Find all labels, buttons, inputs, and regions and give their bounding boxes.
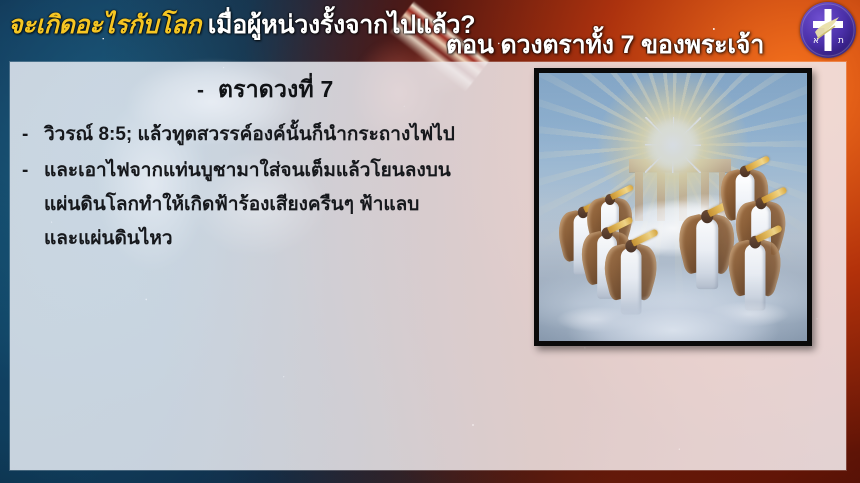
angel-figure (737, 225, 772, 310)
angel-robe (745, 244, 766, 311)
bullet-dash: - (22, 154, 32, 188)
bullet-dash: - (22, 118, 32, 152)
bullet-body: และเอาไฟจากแท่นบูชามาใส่จนเต็มแล้วโยนลงบ… (44, 154, 542, 256)
slide-header: จะเกิดอะไรกับโลก เมื่อผู้หน่วงรั้งจากไปแ… (0, 0, 860, 62)
bullet-line: และเอาไฟจากแท่นบูชามาใส่จนเต็มแล้วโยนลงบ… (44, 154, 542, 188)
heading-dash: - (197, 79, 204, 103)
section-heading: ตราดวงที่ 7 (218, 72, 333, 108)
angel-robe (696, 218, 718, 289)
bullet-line: แผ่นดินโลกทำให้เกิดฟ้าร้องเสียงครืนๆ ฟ้า… (44, 188, 542, 222)
svg-text:א: א (813, 36, 819, 46)
svg-text:ת: ת (838, 36, 844, 46)
slide-title-rest: เมื่อผู้หน่วงรั้งจากไปแล้ว? (201, 11, 475, 39)
bullet-item: - วิวรณ์ 8:5; แล้วทูตสวรรค์องค์นั้นก็นำก… (22, 118, 542, 152)
bullet-line: และแผ่นดินไหว (44, 222, 542, 256)
section-heading-row: - ตราดวงที่ 7 (22, 72, 542, 108)
bullet-line: วิวรณ์ 8:5; แล้วทูตสวรรค์องค์นั้นก็นำกระ… (44, 118, 542, 152)
presentation-slide: จะเกิดอะไรกับโลก เมื่อผู้หน่วงรั้งจากไปแ… (0, 0, 860, 483)
angel-figure (613, 229, 648, 314)
seven-angels-illustration (539, 73, 807, 341)
ministry-logo[interactable]: א ת (800, 2, 856, 58)
illustration-frame (534, 68, 812, 346)
slide-title-highlight: จะเกิดอะไรกับโลก (8, 11, 201, 39)
bullet-body: วิวรณ์ 8:5; แล้วทูตสวรรค์องค์นั้นก็นำกระ… (44, 118, 542, 152)
cross-dove-icon: א ת (800, 2, 856, 58)
slide-title: จะเกิดอะไรกับโลก เมื่อผู้หน่วงรั้งจากไปแ… (8, 13, 475, 38)
angel-robe (621, 248, 642, 315)
slide-subtitle: ตอน ดวงตราทั้ง 7 ของพระเจ้า (446, 33, 764, 58)
angel-figure (688, 199, 725, 289)
scripture-text-block: - ตราดวงที่ 7 - วิวรณ์ 8:5; แล้วทูตสวรรค… (22, 72, 542, 258)
bullet-item: - และเอาไฟจากแท่นบูชามาใส่จนเต็มแล้วโยนล… (22, 154, 542, 256)
